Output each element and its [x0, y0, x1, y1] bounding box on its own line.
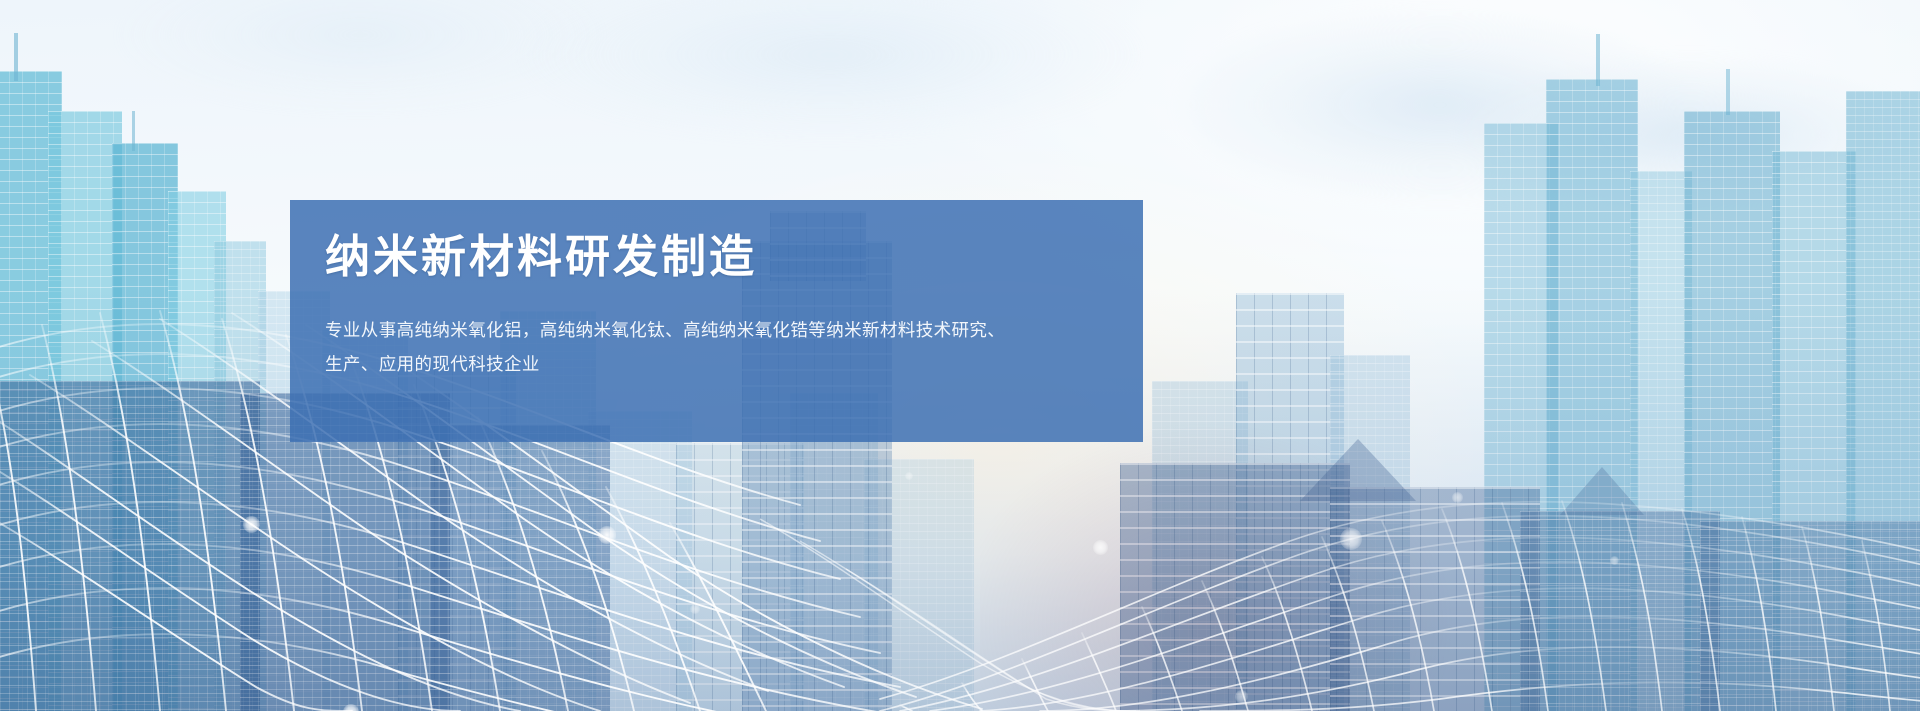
hero-text-panel: 纳米新材料研发制造 专业从事高纯纳米氧化铝，高纯纳米氧化钛、高纯纳米氧化锆等纳米… — [290, 200, 1143, 442]
page-title: 纳米新材料研发制造 — [325, 230, 1113, 283]
antenna-mast — [14, 33, 18, 81]
page-subtitle: 专业从事高纯纳米氧化铝，高纯纳米氧化钛、高纯纳米氧化锆等纳米新材料技术研究、 生… — [325, 313, 1113, 381]
hero-text-wrapper: 纳米新材料研发制造 专业从事高纯纳米氧化铝，高纯纳米氧化钛、高纯纳米氧化锆等纳米… — [325, 230, 1113, 381]
mesh-right-sweep — [880, 501, 1920, 711]
hero-banner: 纳米新材料研发制造 专业从事高纯纳米氧化铝，高纯纳米氧化钛、高纯纳米氧化锆等纳米… — [0, 0, 1920, 711]
subtitle-line-2: 生产、应用的现代科技企业 — [325, 347, 1113, 381]
subtitle-line-1: 专业从事高纯纳米氧化铝，高纯纳米氧化钛、高纯纳米氧化锆等纳米新材料技术研究、 — [325, 313, 1113, 347]
antenna-mast — [1596, 34, 1600, 86]
antenna-mast — [132, 111, 135, 151]
mesh-mid-strands — [760, 519, 1140, 711]
antenna-mast — [1726, 69, 1730, 115]
